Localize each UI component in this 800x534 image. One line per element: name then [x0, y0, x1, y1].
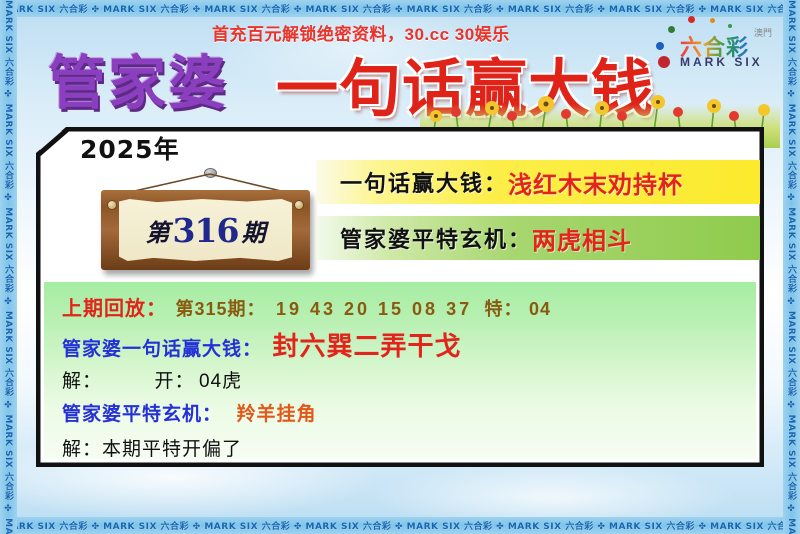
replay-special-label: 特：: [477, 295, 523, 321]
summary-text: 解：本期平特开偏了: [62, 434, 242, 461]
banner-label: 管家婆平特玄机：: [340, 222, 532, 254]
logo-dot-blue: [656, 42, 664, 50]
logo-dot-green-tiny: [728, 24, 732, 28]
issue-number-sign: 第 316 期: [101, 190, 310, 270]
issue-number-text: 第 316 期: [119, 199, 292, 261]
issue-suffix: 期: [241, 213, 265, 248]
border-band-right: MARK SIX 六合彩 ✤ MARK SIX 六合彩 ✤ MARK SIX 六…: [783, 0, 800, 534]
logo-english-text: MARK SIX: [680, 55, 763, 69]
year-label: 2025年: [80, 130, 180, 166]
border-pattern-text: MARK SIX 六合彩 ✤ MARK SIX 六合彩 ✤ MARK SIX 六…: [0, 519, 800, 532]
pingte-label: 管家婆平特玄机：: [62, 399, 222, 426]
poster-canvas: MARK SIX 六合彩 ✤ MARK SIX 六合彩 ✤ MARK SIX 六…: [0, 0, 800, 534]
page-title-brand: 管家婆: [48, 36, 228, 120]
screw-icon: [107, 200, 117, 210]
open-value: 04虎: [199, 366, 242, 393]
issue-prefix: 第: [146, 213, 170, 248]
banner-label: 一句话赢大钱：: [340, 166, 508, 198]
banner-value: 两虎相斗: [532, 221, 632, 256]
logo-dot-red-large: [658, 56, 670, 68]
result-row-summary: 解：本期平特开偏了: [62, 434, 242, 461]
banner-yiju-hua: 一句话赢大钱： 浅红木末劝持杯: [316, 160, 760, 204]
issue-number: 316: [170, 211, 242, 250]
jie-label: 解：: [62, 366, 102, 393]
border-band-bottom: MARK SIX 六合彩 ✤ MARK SIX 六合彩 ✤ MARK SIX 六…: [0, 517, 800, 534]
replay-numbers: 19 43 20 15 08 37: [270, 299, 472, 320]
banner-value: 浅红木末劝持杯: [508, 165, 683, 200]
border-pattern-text: MARK SIX 六合彩 ✤ MARK SIX 六合彩 ✤ MARK SIX 六…: [783, 0, 800, 534]
result-row-replay: 上期回放： 第315期： 19 43 20 15 08 37 特： 04: [62, 292, 551, 321]
replay-special-value: 04: [527, 299, 551, 320]
banner-pingte-xuanji: 管家婆平特玄机： 两虎相斗: [316, 216, 760, 260]
border-band-left: MARK SIX 六合彩 ✤ MARK SIX 六合彩 ✤ MARK SIX 六…: [0, 0, 17, 534]
yiju-label: 管家婆一句话赢大钱：: [62, 334, 262, 361]
screw-icon: [294, 200, 304, 210]
result-row-yiju: 管家婆一句话赢大钱： 封六巽二弄干戈: [62, 326, 461, 363]
logo-dot-orange: [710, 18, 715, 23]
results-panel: 上期回放： 第315期： 19 43 20 15 08 37 特： 04 管家婆…: [44, 282, 756, 459]
mark-six-logo: 澳門 六合彩 MARK SIX: [654, 12, 774, 74]
logo-region-label: 澳門: [754, 26, 772, 39]
border-pattern-text: MARK SIX 六合彩 ✤ MARK SIX 六合彩 ✤ MARK SIX 六…: [0, 0, 17, 534]
logo-dot-green: [668, 26, 675, 33]
logo-dot-red-small: [688, 16, 695, 23]
open-label: 开：: [106, 366, 194, 393]
pingte-value: 羚羊挂角: [226, 399, 316, 426]
sign-paper: 第 316 期: [119, 199, 292, 261]
replay-label: 上期回放：: [62, 292, 167, 321]
result-row-pingte: 管家婆平特玄机： 羚羊挂角: [62, 399, 316, 426]
yiju-value: 封六巽二弄干戈: [266, 326, 461, 363]
result-row-open: 解： 开： 04虎: [62, 366, 242, 393]
replay-issue: 第315期：: [171, 295, 265, 321]
